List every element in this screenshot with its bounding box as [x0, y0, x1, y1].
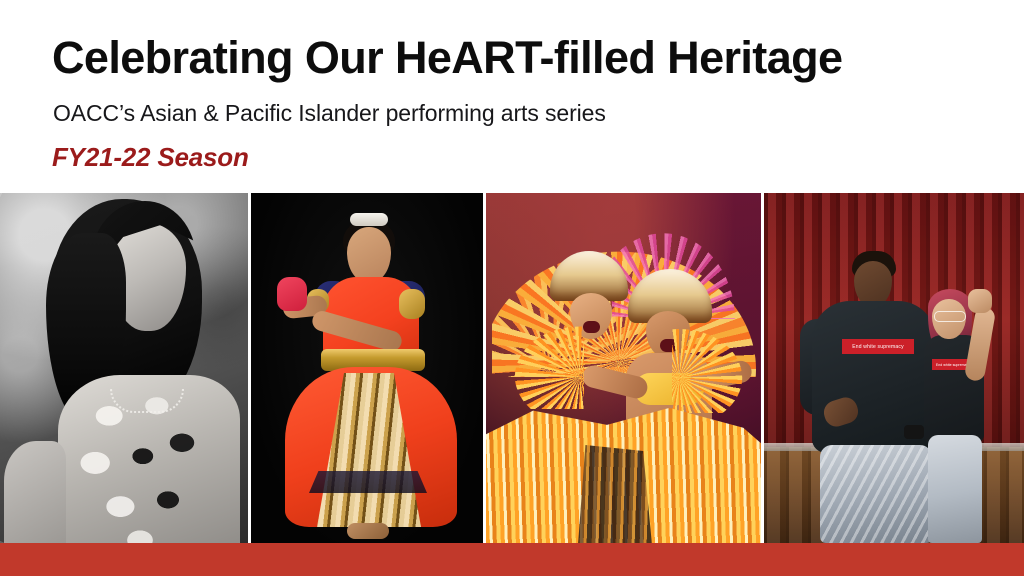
- performer2-raised-fist: [968, 289, 992, 313]
- performer1-shirt-slogan: End white supremacy: [842, 339, 914, 354]
- head-jewelry-shape: [350, 213, 388, 226]
- page-title: Celebrating Our HeART-filled Heritage: [52, 34, 842, 81]
- photo-bw-portrait-singer: [0, 193, 248, 543]
- photo-2-content: [251, 193, 483, 543]
- photo-3-content: [486, 193, 761, 543]
- gold-sleeve-right: [399, 289, 425, 319]
- photo-4-content: End white supremacy End white supremacy: [764, 193, 1024, 543]
- red-painted-hand: [277, 277, 307, 311]
- performer1-wristwatch: [904, 425, 924, 439]
- arm-shape: [4, 441, 66, 543]
- performer2-jeans-shape: [928, 435, 982, 543]
- dancer-face-shape: [347, 227, 391, 283]
- bottom-accent-bar: [0, 543, 1024, 576]
- photo-strip: End white supremacy End white supremacy: [0, 193, 1024, 543]
- season-label: FY21-22 Season: [52, 142, 249, 173]
- photo-polynesian-dancers: [486, 193, 761, 543]
- open-mouth-back: [583, 321, 600, 333]
- fan-border-band: [309, 471, 427, 493]
- poster: Celebrating Our HeART-filled Heritage OA…: [0, 0, 1024, 576]
- photo-spoken-word-duo: End white supremacy End white supremacy: [764, 193, 1024, 543]
- header-band: Celebrating Our HeART-filled Heritage OA…: [0, 0, 1024, 193]
- dancer-foot-shape: [347, 523, 389, 539]
- performer2-glasses-icon: [934, 311, 966, 322]
- performer1-jeans-shape: [820, 445, 932, 543]
- patterned-skirt-panel: [578, 445, 652, 543]
- photo-bharatanatyam-dancer: [251, 193, 483, 543]
- subtitle: OACC’s Asian & Pacific Islander performi…: [53, 100, 606, 127]
- photo-1-content: [0, 193, 248, 543]
